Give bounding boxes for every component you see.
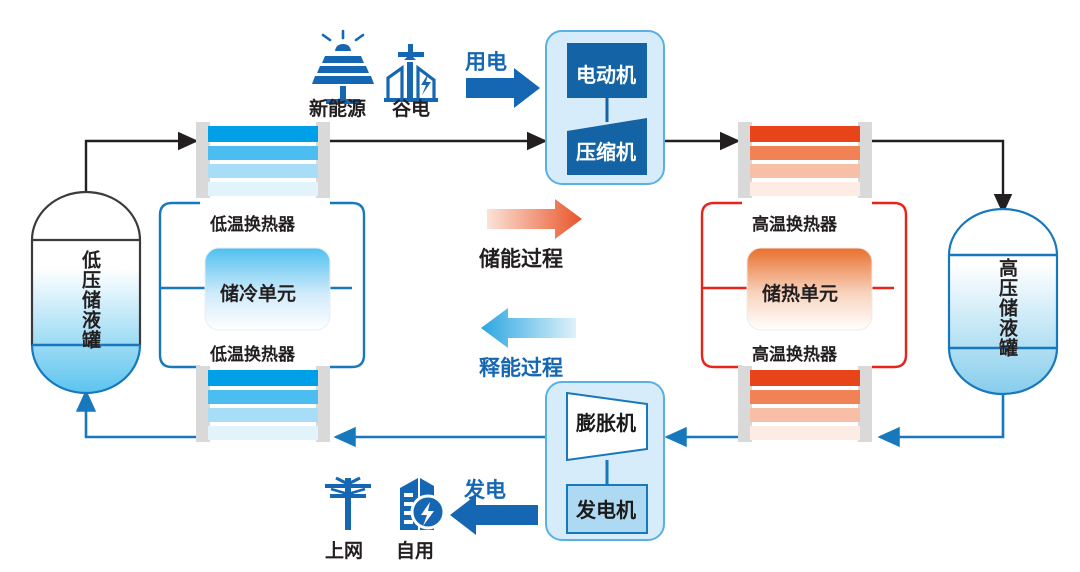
charge-input-flow-label: 用电 <box>465 46 507 76</box>
source-label-new-energy: 新能源 <box>309 94 366 121</box>
heat-exchanger-hot-bottom <box>738 366 872 442</box>
charge-process-arrow <box>487 199 582 239</box>
hot-hx-bottom-label: 高温换热器 <box>752 340 837 365</box>
cold-hx-bottom-label: 低温换热器 <box>210 340 295 365</box>
discharge-process-label: 释能过程 <box>479 352 563 382</box>
motor-label: 电动机 <box>576 59 636 88</box>
building-lightning-icon <box>400 478 444 530</box>
compressor-label: 压缩机 <box>576 136 636 165</box>
cold-hx-top-label: 低温换热器 <box>210 210 295 235</box>
output-label-grid: 上网 <box>325 536 363 563</box>
pipe-lowtank-to-cold-hx-top <box>86 141 196 195</box>
charge-process-label: 储能过程 <box>479 243 563 273</box>
diagram-canvas: 新能源 谷电 用电 上网 自用 发电 电动机 压缩机 膨胀机 发电机 低压储液罐… <box>0 0 1080 572</box>
cold-storage-unit-label: 储冷单元 <box>220 279 296 306</box>
pipe-cold-hx-bottom-to-lowtank <box>86 392 196 437</box>
source-label-valley-power: 谷电 <box>392 94 430 121</box>
output-label-self-use: 自用 <box>396 536 434 563</box>
hot-storage-unit-label: 储热单元 <box>762 279 838 306</box>
hot-hx-top-label: 高温换热器 <box>752 210 837 235</box>
heat-exchanger-cold-top <box>196 122 330 198</box>
heat-exchanger-hot-top <box>738 122 872 198</box>
expander-label: 膨胀机 <box>576 407 636 436</box>
transmission-tower-icon <box>325 478 371 530</box>
discharge-process-arrow <box>481 308 576 348</box>
diagram-vector-layer <box>0 0 1080 572</box>
high-pressure-tank-label: 高压储液罐 <box>993 258 1020 358</box>
low-pressure-tank-label: 低压储液罐 <box>76 250 103 350</box>
discharge-output-flow-label: 发电 <box>464 474 506 504</box>
generator-label: 发电机 <box>576 494 636 523</box>
heat-exchanger-cold-bottom <box>196 366 330 442</box>
pipe-hot-hx-top-to-hightank <box>872 141 1003 212</box>
